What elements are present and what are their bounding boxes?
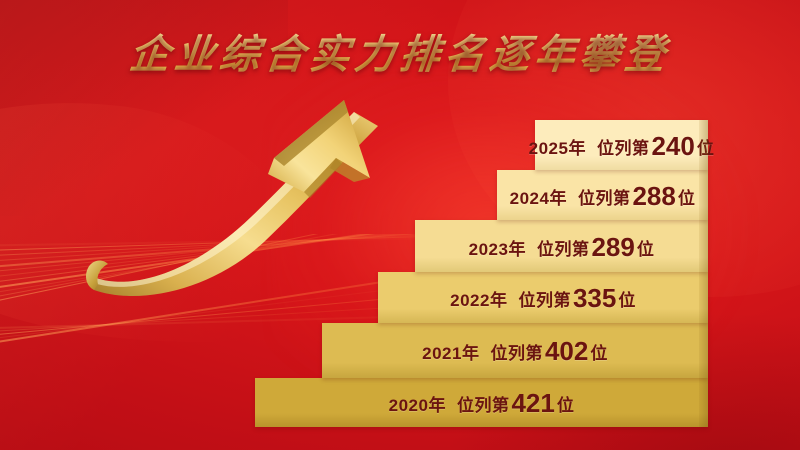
step-year: 2023年 <box>469 235 526 260</box>
step-year: 2021年 <box>422 339 479 364</box>
step-right-edge <box>699 120 708 170</box>
step-rank-prefix: 位列第 <box>490 339 543 364</box>
step-label: 2022年位列第335位 <box>450 284 636 311</box>
step-rank-prefix: 位列第 <box>518 286 571 311</box>
step-rank-number: 335 <box>573 285 616 311</box>
step-year: 2020年 <box>389 391 446 416</box>
step-rank-number: 240 <box>651 133 694 159</box>
step-2021[interactable]: 2021年位列第402位 <box>322 323 708 378</box>
step-2020[interactable]: 2020年位列第421位 <box>255 378 708 427</box>
step-label: 2023年位列第289位 <box>469 233 655 260</box>
step-right-edge <box>699 378 708 427</box>
step-right-edge <box>699 220 708 272</box>
step-rank-suffix: 位 <box>618 286 636 311</box>
step-rank-suffix: 位 <box>590 339 608 364</box>
step-label: 2024年位列第288位 <box>510 182 696 209</box>
step-rank-suffix: 位 <box>678 184 696 209</box>
step-right-edge <box>699 323 708 378</box>
step-2023[interactable]: 2023年位列第289位 <box>415 220 708 272</box>
step-2025[interactable]: 2025年位列第240位 <box>535 120 708 170</box>
step-rank-prefix: 位列第 <box>537 235 590 260</box>
step-rank-suffix: 位 <box>557 391 575 416</box>
step-rank-number: 289 <box>591 234 634 260</box>
step-label: 2025年位列第240位 <box>529 132 715 159</box>
step-year: 2024年 <box>510 184 567 209</box>
step-label: 2021年位列第402位 <box>422 337 608 364</box>
step-rank-prefix: 位列第 <box>578 184 631 209</box>
step-2022[interactable]: 2022年位列第335位 <box>378 272 708 323</box>
step-label: 2020年位列第421位 <box>389 389 575 416</box>
step-rank-number: 402 <box>545 338 588 364</box>
step-year: 2025年 <box>529 134 586 159</box>
infographic-canvas: 企业综合实力排名逐年攀登 <box>0 0 800 450</box>
step-rank-prefix: 位列第 <box>457 391 510 416</box>
step-rank-number: 288 <box>632 183 675 209</box>
step-rank-prefix: 位列第 <box>597 134 650 159</box>
step-right-edge <box>699 272 708 323</box>
step-rank-suffix: 位 <box>637 235 655 260</box>
step-rank-number: 421 <box>511 390 554 416</box>
step-right-edge <box>699 170 708 220</box>
ranking-staircase: 2020年位列第421位2021年位列第402位2022年位列第335位2023… <box>0 0 800 450</box>
step-2024[interactable]: 2024年位列第288位 <box>497 170 708 220</box>
step-year: 2022年 <box>450 286 507 311</box>
